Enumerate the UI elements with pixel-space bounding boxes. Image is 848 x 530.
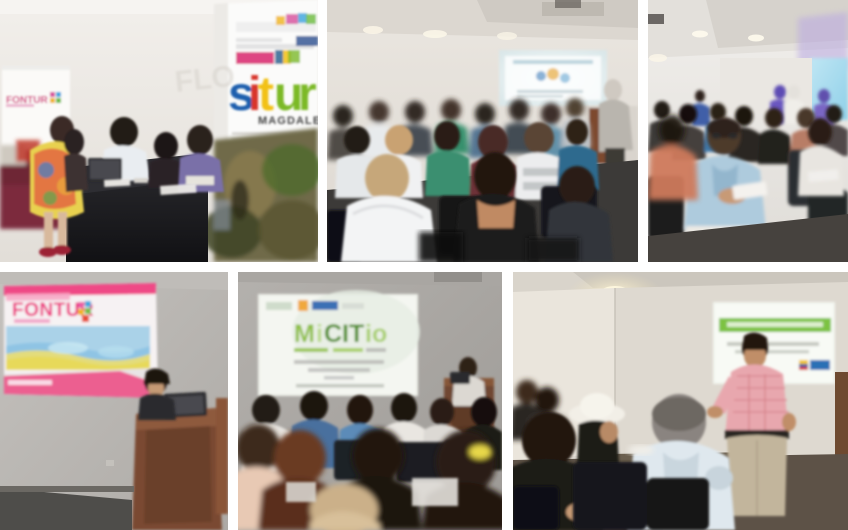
photo-collage: s i t u r MAGDALE FLO [0, 0, 848, 530]
audience-and-speaker-photo [327, 0, 638, 262]
micitio-presentation-photo: M i CIT io [238, 272, 502, 530]
svg-text:i: i [316, 320, 323, 348]
attendees-taking-notes-photo [648, 0, 848, 262]
svg-text:io: io [365, 320, 387, 348]
collage-photo-bottom-center[interactable]: M i CIT io [238, 272, 502, 530]
collage-photo-top-center[interactable]: Seated audience in a conference room fac… [327, 0, 638, 262]
svg-text:M: M [294, 320, 315, 348]
svg-text:MAGDALE: MAGDALE [258, 115, 318, 127]
calidad-sostenibilidad-photo [513, 272, 848, 530]
fontur-presentation-photo: FONTUR [0, 272, 228, 530]
collage-photo-top-left[interactable]: s i t u r MAGDALE FLO [0, 0, 318, 262]
svg-text:t: t [258, 68, 274, 121]
svg-text:FLO: FLO [173, 60, 236, 99]
collage-photo-bottom-right[interactable]: Speaker in a pink checked shirt addressi… [513, 272, 848, 530]
svg-text:r: r [298, 68, 317, 121]
registration-desk-photo: s i t u r MAGDALE FLO [0, 0, 318, 262]
collage-photo-top-right[interactable]: Attendees seated and taking notes, other… [648, 0, 848, 262]
svg-text:CIT: CIT [324, 320, 364, 348]
collage-photo-bottom-left[interactable]: FONTUR [0, 272, 228, 530]
